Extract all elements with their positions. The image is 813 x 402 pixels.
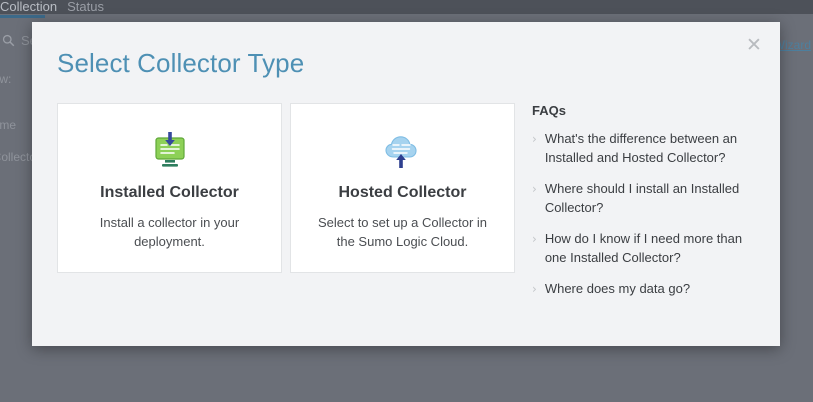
select-collector-type-dialog: ✕ Select Collector Type	[32, 22, 780, 346]
background-column-header-name: Name	[0, 118, 16, 132]
installed-collector-monitor-icon	[149, 130, 191, 174]
tab-collection[interactable]: Collection	[0, 0, 67, 14]
faq-question[interactable]: How do I know if I need more than one In…	[545, 230, 757, 267]
faq-heading: FAQs	[532, 103, 757, 118]
page-title: Select Collector Type	[57, 48, 304, 79]
card-title: Hosted Collector	[338, 184, 466, 202]
background-topbar	[0, 0, 813, 14]
faq-question[interactable]: Where does my data go?	[545, 280, 690, 299]
search-icon	[2, 34, 15, 47]
faq-item[interactable]: › Where should I install an Installed Co…	[532, 180, 757, 217]
chevron-right-icon: ›	[532, 230, 537, 267]
tab-status[interactable]: Status	[67, 0, 114, 14]
tab-active-indicator	[0, 15, 45, 18]
faq-question[interactable]: What's the difference between an Install…	[545, 130, 757, 167]
collector-type-card-list: Installed Collector Install a collector …	[57, 103, 515, 273]
faq-section: FAQs › What's the difference between an …	[532, 103, 757, 312]
faq-item[interactable]: › Where does my data go?	[532, 280, 757, 299]
faq-question[interactable]: Where should I install an Installed Coll…	[545, 180, 757, 217]
card-description: Select to set up a Collector in the Sumo…	[317, 213, 489, 251]
chevron-right-icon: ›	[532, 180, 537, 217]
card-description: Install a collector in your deployment.	[84, 213, 256, 251]
close-icon[interactable]: ✕	[743, 34, 765, 56]
card-title: Installed Collector	[100, 184, 239, 202]
card-hosted-collector[interactable]: Hosted Collector Select to set up a Coll…	[290, 103, 515, 273]
chevron-right-icon: ›	[532, 130, 537, 167]
faq-item[interactable]: › What's the difference between an Insta…	[532, 130, 757, 167]
background-show-label: Show:	[0, 72, 11, 86]
faq-item[interactable]: › How do I know if I need more than one …	[532, 230, 757, 267]
chevron-right-icon: ›	[532, 280, 537, 299]
card-installed-collector[interactable]: Installed Collector Install a collector …	[57, 103, 282, 273]
hosted-collector-cloud-icon	[382, 130, 424, 174]
